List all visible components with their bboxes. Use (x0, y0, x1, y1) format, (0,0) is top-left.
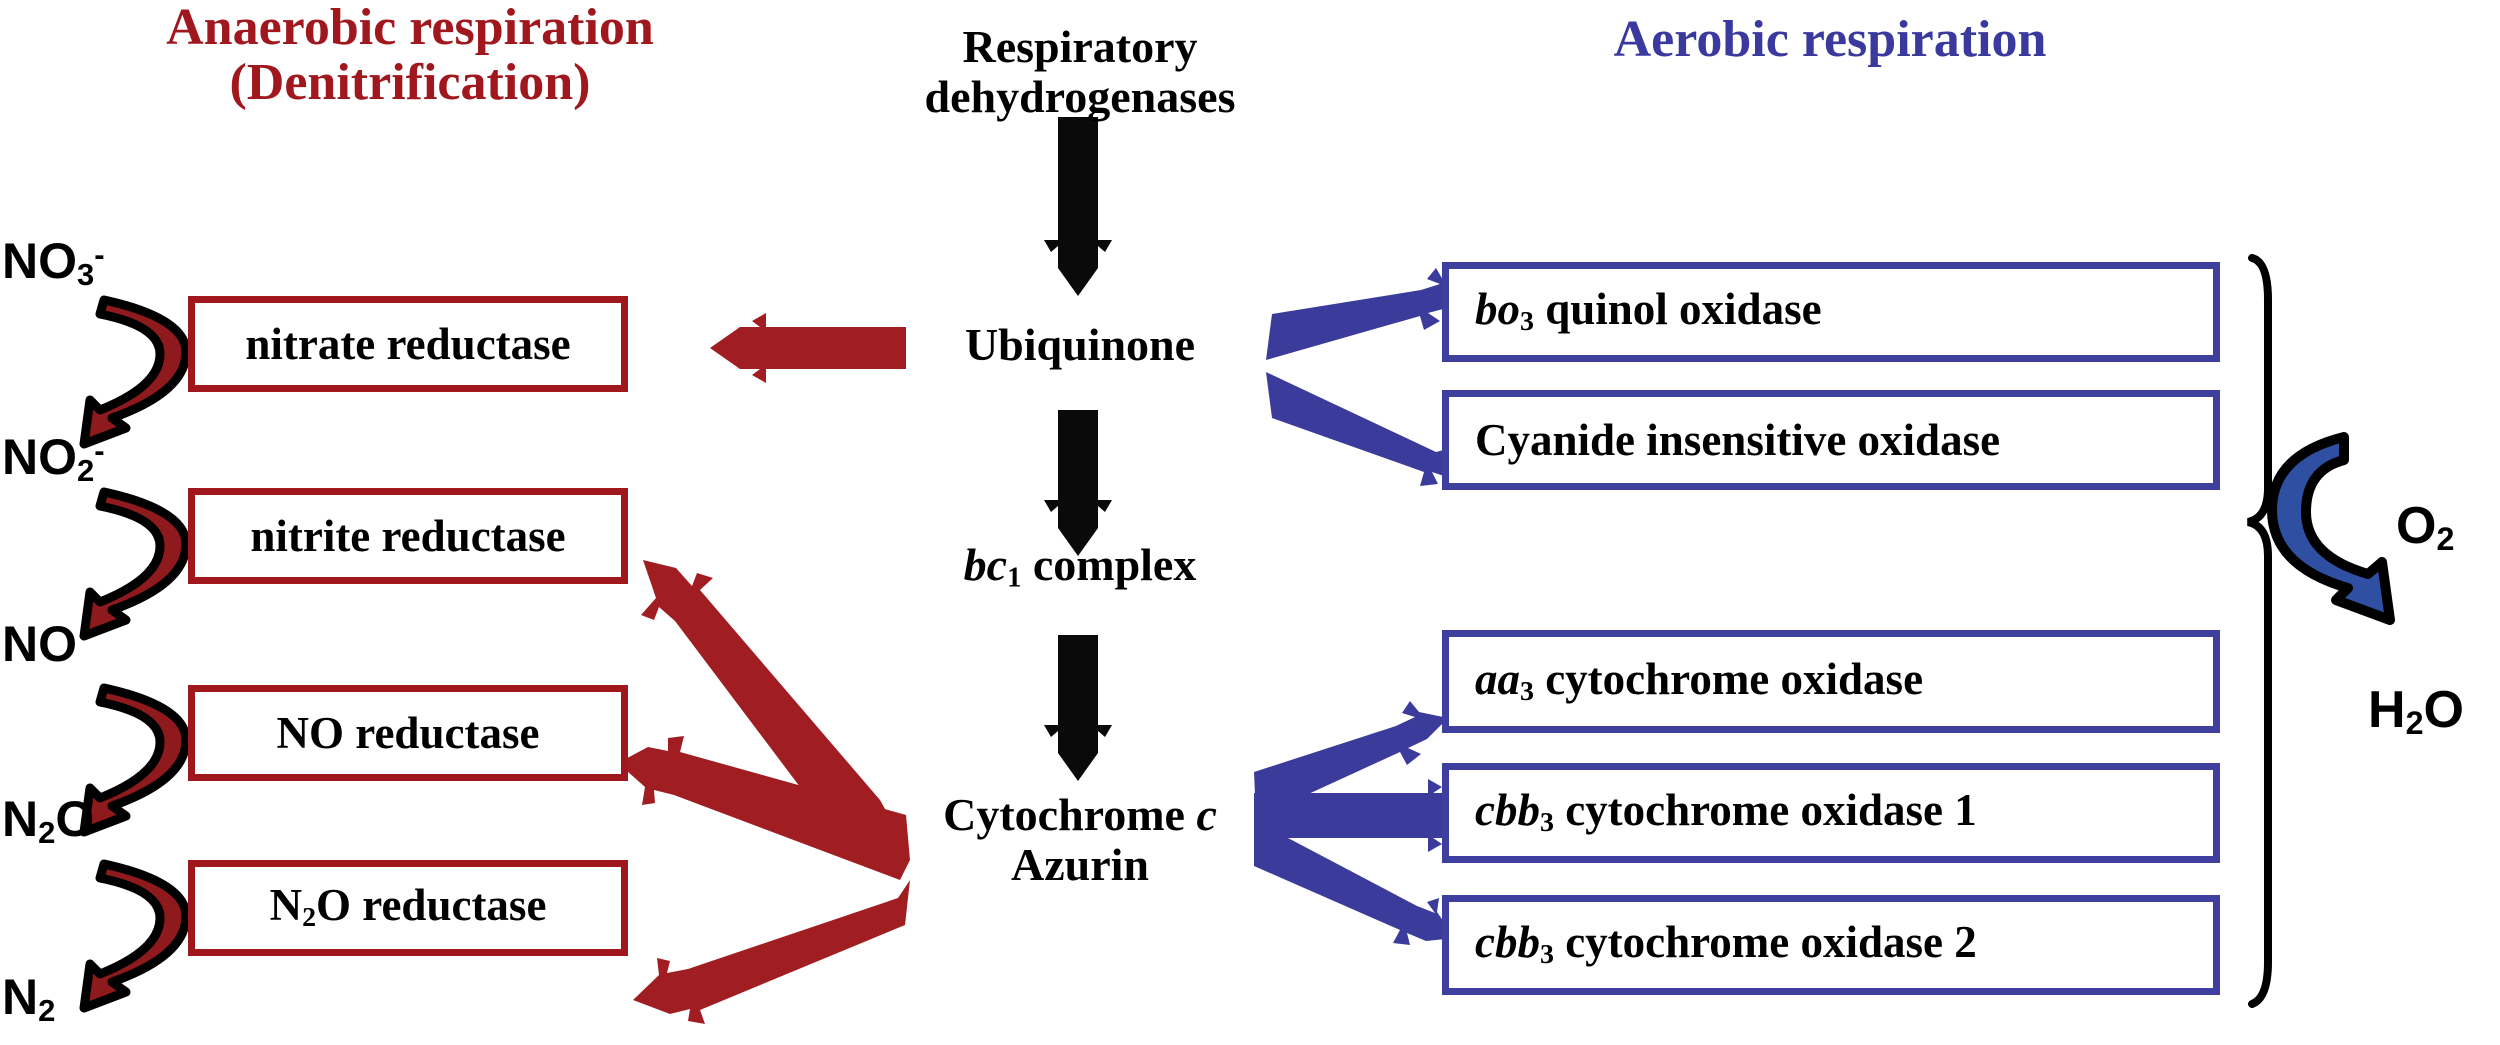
enzyme-label-n2o-reductase: N2O reductase (195, 883, 621, 932)
enzyme-label-bo3-quinol-oxidase: bo3 quinol oxidase (1449, 287, 1822, 336)
bo3-subscript: 3 (1520, 307, 1534, 338)
enzyme-label-nitrate-reductase: nitrate reductase (195, 322, 621, 367)
right-curly-brace (2248, 258, 2268, 1004)
enzyme-box-nitrite-reductase[interactable]: nitrite reductase (188, 488, 628, 584)
black-down-arrow-dehydrogenases-to-ubiquinone (1044, 117, 1112, 296)
cbb3-1-rest: cytochrome oxidase 1 (1554, 785, 1977, 835)
node-ubiquinone: Ubiquinone (880, 320, 1280, 370)
substrate-n2o-tail: O (55, 791, 94, 847)
substrate-label-dinitrogen: N2 (2, 968, 55, 1029)
enzyme-box-cbb3-cytochrome-oxidase-1[interactable]: cbb3 cytochrome oxidase 1 (1442, 763, 2220, 863)
blue-arrow-ubiquinone-to-bo3-oxidase (1266, 268, 1470, 360)
bc1-italic: bc (964, 539, 1007, 590)
curved-red-arrow-no-to-n2o (84, 688, 186, 832)
substrate-label-nitrous-oxide: N2O (2, 790, 94, 851)
enzyme-box-cyanide-insensitive-oxidase[interactable]: Cyanide insensitive oxidase (1442, 390, 2220, 490)
substrate-label-nitrite: NO2- (2, 428, 105, 489)
substrate-label-nitrate: NO3- (2, 232, 105, 293)
heading-anaerobic-line2: (Denitrification) (60, 55, 760, 110)
node-dehydrogenases-line2: dehydrogenases (830, 72, 1330, 122)
enzyme-label-no-reductase: NO reductase (195, 711, 621, 756)
n2o-reductase-prefix: N (270, 880, 303, 930)
bc1-subscript: 1 (1007, 562, 1021, 593)
enzyme-box-no-reductase[interactable]: NO reductase (188, 685, 628, 781)
cbb3-1-subscript: 3 (1540, 808, 1554, 839)
black-down-arrow-bc1-to-cytochrome (1044, 635, 1112, 781)
curved-red-arrow-n2o-to-n2 (84, 864, 186, 1008)
cbb3-2-subscript: 3 (1540, 940, 1554, 971)
aa3-subscript: 3 (1520, 676, 1534, 707)
enzyme-label-cyanide-insensitive-oxidase: Cyanide insensitive oxidase (1449, 418, 2000, 463)
curved-red-arrow-no2-to-no (84, 492, 186, 636)
substrate-label-nitric-oxide: NO (2, 615, 77, 673)
bo3-rest: quinol oxidase (1534, 284, 1822, 334)
black-down-arrow-ubiquinone-to-bc1 (1044, 410, 1112, 556)
o2-subscript: 2 (2436, 521, 2454, 557)
enzyme-box-cbb3-cytochrome-oxidase-2[interactable]: cbb3 cytochrome oxidase 2 (1442, 895, 2220, 995)
node-cytochrome-c: Cytochrome c (840, 790, 1320, 840)
substrate-n2o-base: N (2, 791, 38, 847)
substrate-no2-sub: 2 (77, 453, 94, 488)
heading-anaerobic-respiration: Anaerobic respiration (Denitrification) (60, 0, 760, 110)
substrate-n2-sub: 2 (38, 993, 55, 1028)
node-azurin: Azurin (840, 840, 1320, 890)
n2o-reductase-rest: O reductase (316, 880, 546, 930)
node-cytochrome-c-azurin: Cytochrome c Azurin (840, 790, 1320, 889)
substrate-no3-base: NO (2, 233, 77, 289)
gas-label-oxygen: O2 (2396, 496, 2454, 558)
node-respiratory-dehydrogenases: Respiratory dehydrogenases (830, 22, 1330, 121)
substrate-no3-sub: 3 (77, 257, 94, 292)
red-arrow-ubiquinone-to-nitrate-reductase (710, 313, 906, 383)
o2-base: O (2396, 497, 2436, 555)
cbb3-2-rest: cytochrome oxidase 2 (1554, 917, 1977, 967)
substrate-no-base: NO (2, 616, 77, 672)
enzyme-label-cbb3-cytochrome-oxidase-2: cbb3 cytochrome oxidase 2 (1449, 920, 1977, 969)
enzyme-box-nitrate-reductase[interactable]: nitrate reductase (188, 296, 628, 392)
substrate-no3-charge: - (94, 237, 104, 272)
cytochrome-italic-c: c (1196, 789, 1216, 840)
aa3-rest: cytochrome oxidase (1534, 654, 1923, 704)
heading-anaerobic-line1: Anaerobic respiration (60, 0, 760, 55)
enzyme-box-bo3-quinol-oxidase[interactable]: bo3 quinol oxidase (1442, 262, 2220, 362)
substrate-n2o-sub: 2 (38, 815, 55, 850)
h2o-tail: O (2424, 681, 2464, 739)
substrate-n2-base: N (2, 969, 38, 1025)
enzyme-label-cbb3-cytochrome-oxidase-1: cbb3 cytochrome oxidase 1 (1449, 788, 1977, 837)
enzyme-label-nitrite-reductase: nitrite reductase (195, 514, 621, 559)
cytochrome-prefix: Cytochrome (943, 789, 1196, 840)
node-bc1-complex: bc1 complex (880, 540, 1280, 594)
enzyme-box-n2o-reductase[interactable]: N2O reductase (188, 860, 628, 956)
h2o-base: H (2368, 681, 2406, 739)
gas-label-water: H2O (2368, 680, 2464, 742)
cbb3-1-italic: cbb (1475, 785, 1540, 835)
n2o-reductase-sub: 2 (302, 903, 316, 934)
bc1-rest: complex (1021, 539, 1196, 590)
bo3-italic: bo (1475, 284, 1520, 334)
substrate-no2-charge: - (94, 433, 104, 468)
node-dehydrogenases-line1: Respiratory (830, 22, 1330, 72)
aa3-italic: aa (1475, 654, 1520, 704)
heading-aerobic-respiration: Aerobic respiration (1480, 12, 2180, 67)
curved-blue-arrow-o2-to-h2o (2272, 437, 2390, 620)
enzyme-label-aa3-cytochrome-oxidase: aa3 cytochrome oxidase (1449, 657, 1923, 706)
enzyme-box-aa3-cytochrome-oxidase[interactable]: aa3 cytochrome oxidase (1442, 630, 2220, 733)
h2o-subscript: 2 (2406, 705, 2424, 741)
substrate-no2-base: NO (2, 429, 77, 485)
cbb3-2-italic: cbb (1475, 917, 1540, 967)
red-fan-arrow-to-n2o-reductase (633, 880, 910, 1024)
curved-red-arrow-no3-to-no2 (84, 300, 186, 444)
